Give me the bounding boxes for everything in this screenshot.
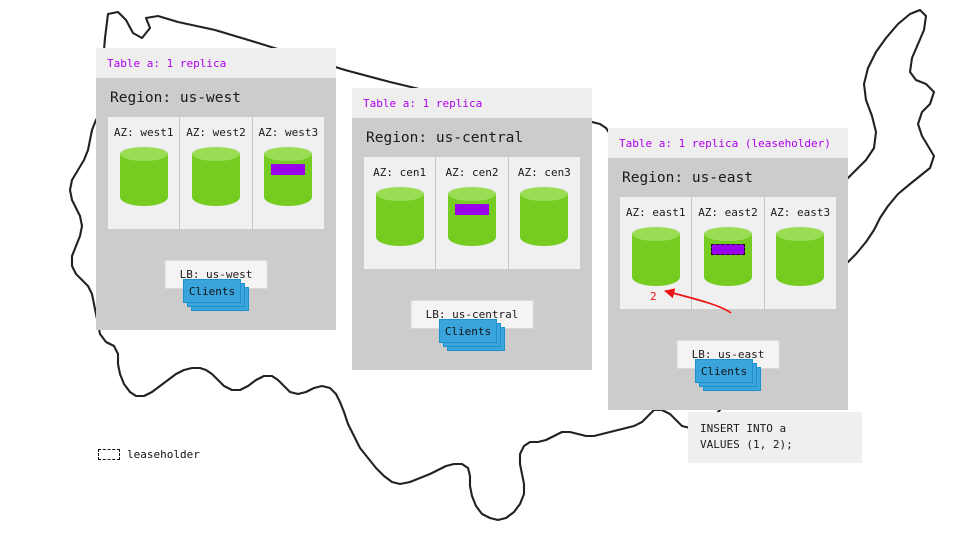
sql-statement-box: INSERT INTO a VALUES (1, 2); (688, 412, 862, 463)
az-cell-east2[interactable]: AZ: east2 (691, 197, 763, 309)
cylinder-body (704, 234, 752, 286)
az-cell-cen3[interactable]: AZ: cen3 (508, 157, 580, 269)
region-panel-us-central: Table a: 1 replica Region: us-central AZ… (352, 88, 592, 370)
region-title-us-east: Region: us-east (608, 158, 848, 197)
cylinder-top (192, 147, 240, 161)
node-cylinder-cen2[interactable] (448, 187, 496, 253)
panel-body-us-central: Region: us-central AZ: cen1 AZ: cen2 (352, 118, 592, 370)
cylinder-top (448, 187, 496, 201)
clients-stack-us-central[interactable]: Clients (439, 319, 505, 351)
az-label-cen3: AZ: cen3 (509, 166, 580, 179)
panel-body-us-east: Region: us-east AZ: east1 AZ: east2 (608, 158, 848, 410)
az-cell-west2[interactable]: AZ: west2 (179, 117, 251, 229)
az-cell-cen1[interactable]: AZ: cen1 (364, 157, 435, 269)
az-container-us-west: AZ: west1 AZ: west2 AZ: west3 (108, 117, 324, 229)
clients-button-us-west[interactable]: Clients (183, 279, 241, 303)
node-cylinder-cen3[interactable] (520, 187, 568, 253)
az-label-cen1: AZ: cen1 (364, 166, 435, 179)
clients-button-us-central[interactable]: Clients (439, 319, 497, 343)
cylinder-top (776, 227, 824, 241)
region-panel-us-west: Table a: 1 replica Region: us-west AZ: w… (96, 48, 336, 330)
cylinder-body (448, 194, 496, 246)
diagram-canvas: Table a: 1 replica Region: us-west AZ: w… (0, 0, 960, 540)
arrow-step-label-2: 2 (650, 290, 657, 303)
az-cell-east3[interactable]: AZ: east3 (764, 197, 836, 309)
node-cylinder-west3[interactable] (264, 147, 312, 213)
cylinder-body (632, 234, 680, 286)
az-label-west2: AZ: west2 (180, 126, 251, 139)
az-container-us-central: AZ: cen1 AZ: cen2 AZ: cen3 (364, 157, 580, 269)
range-replica-cen2 (455, 204, 489, 215)
cylinder-body (776, 234, 824, 286)
clients-button-us-east[interactable]: Clients (695, 359, 753, 383)
region-title-us-west: Region: us-west (96, 78, 336, 117)
az-cell-west3[interactable]: AZ: west3 (252, 117, 324, 229)
az-label-east2: AZ: east2 (692, 206, 763, 219)
panel-header-us-west: Table a: 1 replica (96, 48, 336, 78)
cylinder-body (520, 194, 568, 246)
range-replica-west3 (271, 164, 305, 175)
node-cylinder-cen1[interactable] (376, 187, 424, 253)
az-cell-west1[interactable]: AZ: west1 (108, 117, 179, 229)
az-label-west1: AZ: west1 (108, 126, 179, 139)
cylinder-body (120, 154, 168, 206)
az-label-east3: AZ: east3 (765, 206, 836, 219)
cylinder-top (704, 227, 752, 241)
node-cylinder-west1[interactable] (120, 147, 168, 213)
cylinder-body (192, 154, 240, 206)
node-cylinder-east3[interactable] (776, 227, 824, 293)
panel-body-us-west: Region: us-west AZ: west1 AZ: west2 (96, 78, 336, 330)
leaseholder-dashed-swatch (98, 449, 120, 460)
clients-stack-us-east[interactable]: Clients (695, 359, 761, 391)
region-title-us-central: Region: us-central (352, 118, 592, 157)
legend-label-leaseholder: leaseholder (127, 448, 200, 461)
node-cylinder-east2[interactable] (704, 227, 752, 293)
cylinder-top (632, 227, 680, 241)
range-leaseholder-east2 (711, 244, 745, 255)
cylinder-top (264, 147, 312, 161)
cylinder-top (376, 187, 424, 201)
az-cell-cen2[interactable]: AZ: cen2 (435, 157, 507, 269)
node-cylinder-east1[interactable] (632, 227, 680, 293)
cylinder-top (120, 147, 168, 161)
legend: leaseholder (98, 448, 200, 461)
az-label-cen2: AZ: cen2 (436, 166, 507, 179)
az-label-west3: AZ: west3 (253, 126, 324, 139)
cylinder-top (520, 187, 568, 201)
region-panel-us-east: Table a: 1 replica (leaseholder) Region:… (608, 128, 848, 410)
az-label-east1: AZ: east1 (620, 206, 691, 219)
cylinder-body (376, 194, 424, 246)
node-cylinder-west2[interactable] (192, 147, 240, 213)
cylinder-body (264, 154, 312, 206)
panel-header-us-central: Table a: 1 replica (352, 88, 592, 118)
panel-header-us-east: Table a: 1 replica (leaseholder) (608, 128, 848, 158)
clients-stack-us-west[interactable]: Clients (183, 279, 249, 311)
